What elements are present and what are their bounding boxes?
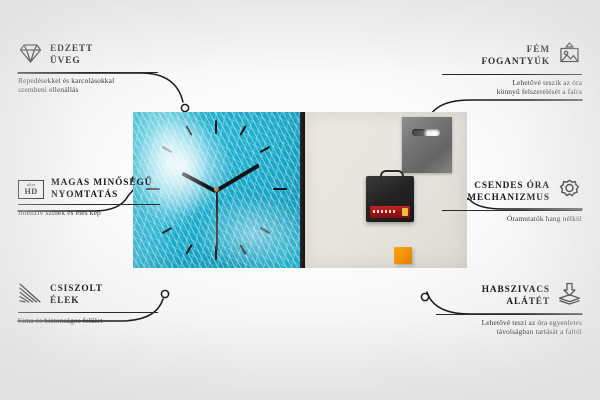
connector-dot-edzett-uveg xyxy=(181,104,188,111)
callout-desc-line2: szembeni ellenállás xyxy=(18,85,158,94)
clock-tick xyxy=(260,146,271,153)
mechanism-hook xyxy=(380,170,404,181)
clock-tick xyxy=(215,246,217,260)
callout-fem-fogantyuk: FÉM FOGANTYÚK Lehetővé teszik az óra kön… xyxy=(442,42,582,97)
clock-tick xyxy=(273,188,287,190)
callout-divider xyxy=(442,74,582,75)
clock-tick xyxy=(239,125,246,136)
clock-minute-hand xyxy=(215,164,260,194)
callout-title-line1: MAGAS MINŐSÉGŰ xyxy=(51,178,152,190)
hanger-slot xyxy=(412,129,440,136)
callout-desc-line1: Lehetővé teszik az óra xyxy=(442,78,582,87)
callout-csiszolt-elek: CSISZOLT ÉLEK Sima és biztonságos felüle… xyxy=(18,282,158,325)
callout-title-line1: CSISZOLT xyxy=(50,284,103,296)
callout-divider xyxy=(18,72,158,73)
callout-title-line2: ÜVEG xyxy=(50,56,93,68)
callout-title-line1: CSENDES ÓRA xyxy=(467,181,550,193)
connector-dot-habszivacs xyxy=(421,293,428,300)
ultra-hd-icon: ultra HD xyxy=(18,180,44,199)
infographic-canvas: EDZETT ÜVEG Repedésekkel és karcolásokka… xyxy=(0,0,600,400)
callout-title-line1: FÉM xyxy=(481,45,550,57)
callout-desc-line1: Repedésekkel és karcolásokkal xyxy=(18,76,158,85)
callout-title-line2: ALÁTÉT xyxy=(482,297,550,309)
clock-tick xyxy=(215,120,217,134)
callout-title-line2: FOGANTYÚK xyxy=(481,57,550,69)
orange-foam-pad xyxy=(394,247,412,264)
callout-habszivacs-alatet: HABSZIVACS ALÁTÉT Lehetővé teszi az óra … xyxy=(436,282,582,337)
diamond-icon xyxy=(18,42,43,69)
callout-magas-minosegu-nyomtatas: ultra HD MAGAS MINŐSÉGŰ NYOMTATÁS Intenz… xyxy=(18,178,160,217)
callout-title-line1: EDZETT xyxy=(50,44,93,56)
callout-desc-line2: távolságban tartását a faltól xyxy=(436,327,582,336)
callout-desc-line1: Intenzív színek és éles kép xyxy=(18,208,160,217)
connector-dot-csiszolt-elek xyxy=(161,290,168,297)
clock-tick xyxy=(162,146,173,153)
clock-tick xyxy=(162,227,173,234)
clock-hour-hand xyxy=(181,171,217,193)
clock-tick xyxy=(239,244,246,255)
callout-divider xyxy=(436,314,582,315)
callout-title-line2: MECHANIZMUS xyxy=(467,193,550,205)
callout-desc-line1: Lehetővé teszi az óra egyenletes xyxy=(436,318,582,327)
clock-tick xyxy=(260,227,271,234)
clock-center-cap xyxy=(214,187,219,192)
callout-csendes-ora-mechanizmus: CSENDES ÓRA MECHANIZMUS Óramutatók hang … xyxy=(442,178,582,223)
callout-desc-line1: Óramutatók hang nélkül xyxy=(442,214,582,223)
callout-title-line2: NYOMTATÁS xyxy=(51,190,152,202)
callout-title-line2: ÉLEK xyxy=(50,296,103,308)
callout-title-line1: HABSZIVACS xyxy=(482,285,550,297)
gear-icon xyxy=(557,178,582,207)
callout-desc-line1: Sima és biztonságos felület xyxy=(18,316,158,325)
callout-desc-line2: könnyű felszerelését a falra xyxy=(442,87,582,96)
ultra-hd-large-text: HD xyxy=(25,188,38,196)
clock-second-hand xyxy=(216,189,218,251)
clock-tick xyxy=(185,244,192,255)
callout-divider xyxy=(442,210,582,211)
beveled-edge-icon xyxy=(18,282,43,309)
callout-edzett-uveg: EDZETT ÜVEG Repedésekkel és karcolásokka… xyxy=(18,42,158,95)
metal-hanger-plate xyxy=(402,117,452,173)
foam-pad-arrow-icon xyxy=(557,282,582,311)
mechanism-battery xyxy=(370,206,410,218)
clock-mechanism-box xyxy=(366,176,414,222)
callout-divider xyxy=(18,312,158,313)
picture-hanging-icon xyxy=(557,42,582,71)
clock-tick xyxy=(185,125,192,136)
callout-divider xyxy=(18,204,160,205)
